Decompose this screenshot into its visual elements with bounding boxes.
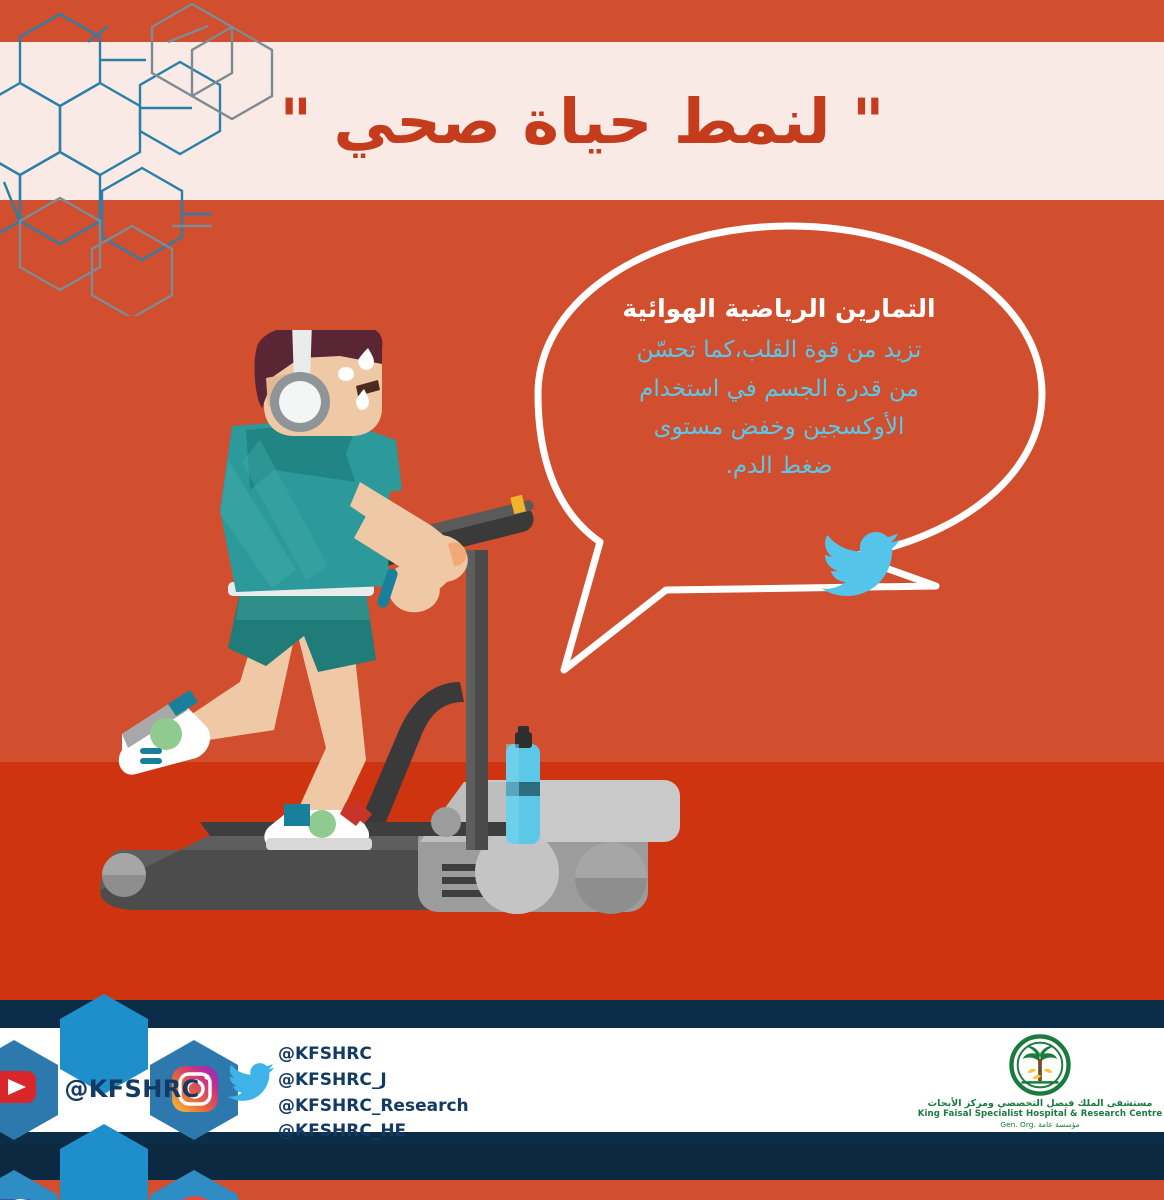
runner-figure bbox=[119, 330, 468, 850]
social-hexagon-youtube bbox=[0, 1040, 58, 1140]
logo-english-name: King Faisal Specialist Hospital & Resear… bbox=[918, 1109, 1163, 1119]
handle-item[interactable]: @KFSHRC_HE bbox=[278, 1119, 469, 1145]
handle-item[interactable]: @KFSHRC_J bbox=[278, 1068, 469, 1094]
logo-arabic-name: مستشفى الملك فيصل التخصصي ومركز الأبحاث bbox=[928, 1098, 1153, 1109]
logo-subtitle: Gen. Org. مؤسسة عامة bbox=[1000, 1120, 1079, 1129]
palm-tree-emblem-icon bbox=[1009, 1034, 1071, 1096]
handle-item[interactable]: @KFSHRC bbox=[278, 1042, 469, 1068]
handle-item[interactable]: @KFSHRC_Research bbox=[278, 1094, 469, 1120]
social-handles-list: @KFSHRC @KFSHRC_J @KFSHRC_Research @KFSH… bbox=[278, 1042, 469, 1145]
runner-treadmill-illustration bbox=[60, 330, 700, 970]
twitter-bird-icon bbox=[822, 531, 900, 597]
twitter-bird-icon bbox=[228, 1062, 274, 1102]
title-container: " لنمط حياة صحي " bbox=[0, 42, 1164, 200]
poster-canvas: " لنمط حياة صحي " التمارين الرياضية الهو… bbox=[0, 0, 1164, 1200]
footer: G+ @KFSHRC @KFSHRC @KFSHRC_J @KFSHRC_Res… bbox=[0, 1000, 1164, 1200]
kfshrc-handle-badge[interactable]: @KFSHRC bbox=[62, 1072, 202, 1106]
social-hexagon-googleplus: G+ bbox=[150, 1170, 238, 1200]
page-title: " لنمط حياة صحي " bbox=[280, 85, 885, 158]
social-hexagon-facebook bbox=[0, 1170, 58, 1200]
running-shoe-back bbox=[119, 690, 210, 775]
kfshrc-logo: مستشفى الملك فيصل التخصصي ومركز الأبحاث … bbox=[940, 1034, 1140, 1144]
water-bottle bbox=[506, 726, 540, 844]
hexagon-decor-bottom bbox=[60, 1124, 148, 1200]
